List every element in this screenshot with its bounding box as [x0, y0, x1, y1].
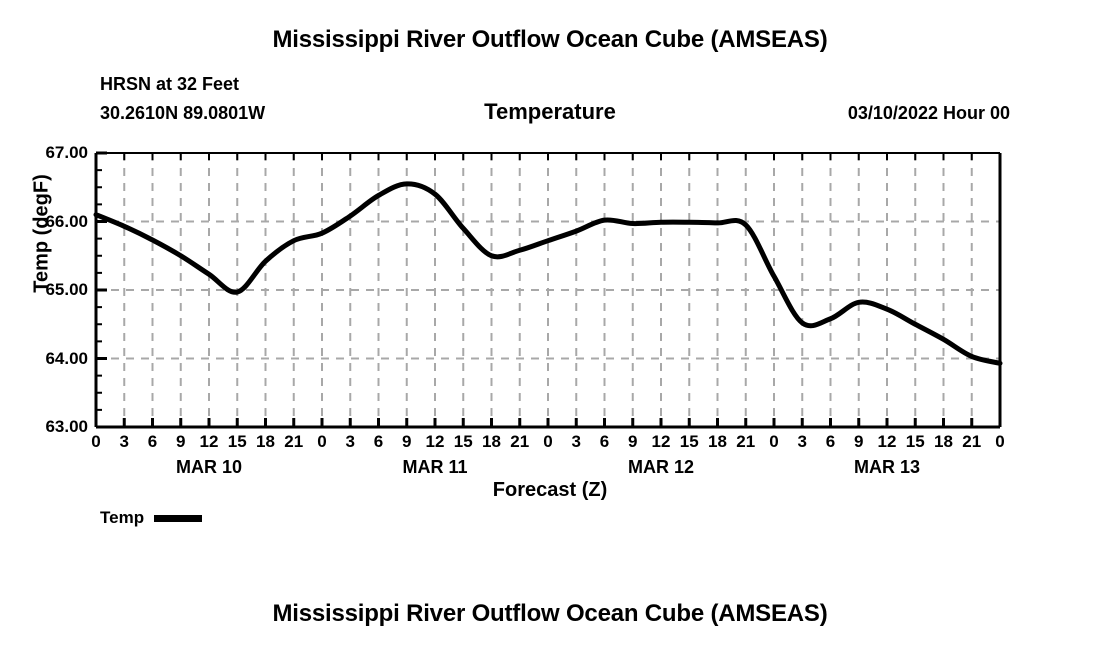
y-tick-label: 65.00 [18, 280, 88, 300]
legend: Temp [100, 508, 202, 528]
legend-line-swatch [154, 515, 202, 522]
plot-area: Temp (degF) 67.0066.0065.0064.0063.00 03… [0, 0, 1100, 650]
chart-page: Mississippi River Outflow Ocean Cube (AM… [0, 0, 1100, 650]
day-label: MAR 10 [139, 457, 279, 478]
y-tick-label: 67.00 [18, 143, 88, 163]
day-label: MAR 13 [817, 457, 957, 478]
y-tick-label: 64.00 [18, 349, 88, 369]
day-label: MAR 12 [591, 457, 731, 478]
y-tick-label: 66.00 [18, 212, 88, 232]
chart-svg [0, 0, 1100, 650]
footer-title: Mississippi River Outflow Ocean Cube (AM… [0, 600, 1100, 628]
legend-series-label: Temp [100, 508, 144, 528]
day-label: MAR 11 [365, 457, 505, 478]
x-axis-title: Forecast (Z) [0, 479, 1100, 502]
x-tick-label: 0 [980, 432, 1020, 452]
